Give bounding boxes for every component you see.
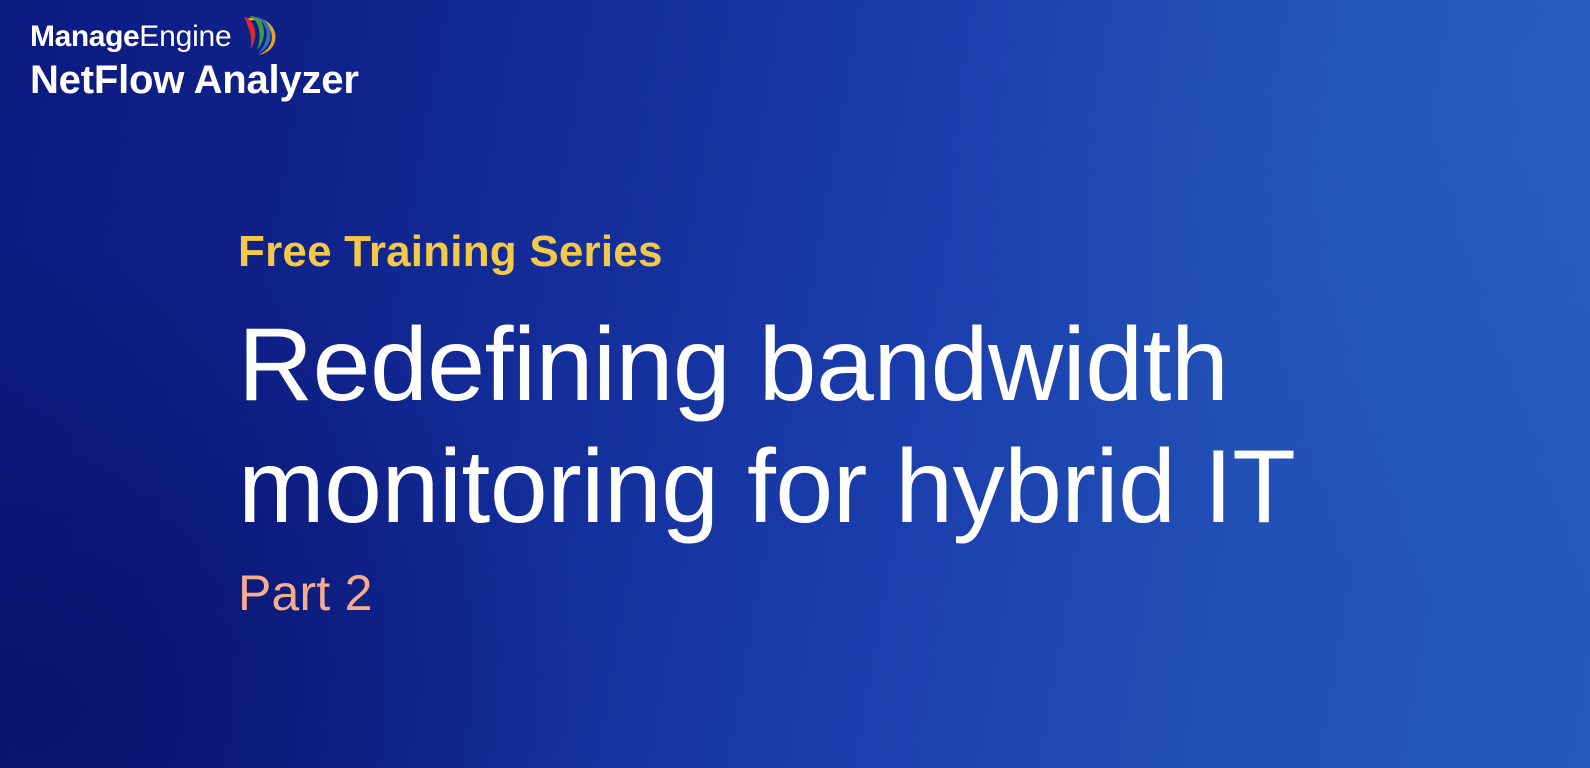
eyebrow-label: Free Training Series (238, 222, 1438, 282)
manageengine-logo: ManageEngine NetFlow Analyzer (30, 18, 460, 103)
headline-line-1: Redefining bandwidth (238, 304, 1438, 426)
company-name-bold: Manage (30, 20, 139, 53)
part-label: Part 2 (238, 562, 1438, 624)
company-name-light: Engine (139, 20, 231, 53)
slide-content: Free Training Series Redefining bandwidt… (238, 222, 1438, 624)
page-title: Redefining bandwidth monitoring for hybr… (238, 304, 1438, 548)
product-name: NetFlow Analyzer (30, 57, 460, 103)
company-name: ManageEngine (30, 18, 460, 56)
webinar-title-slide: ManageEngine NetFlow Analyzer Free Train… (0, 0, 1590, 768)
manageengine-swoosh-icon (233, 12, 279, 58)
headline-line-2: monitoring for hybrid IT (238, 426, 1438, 548)
